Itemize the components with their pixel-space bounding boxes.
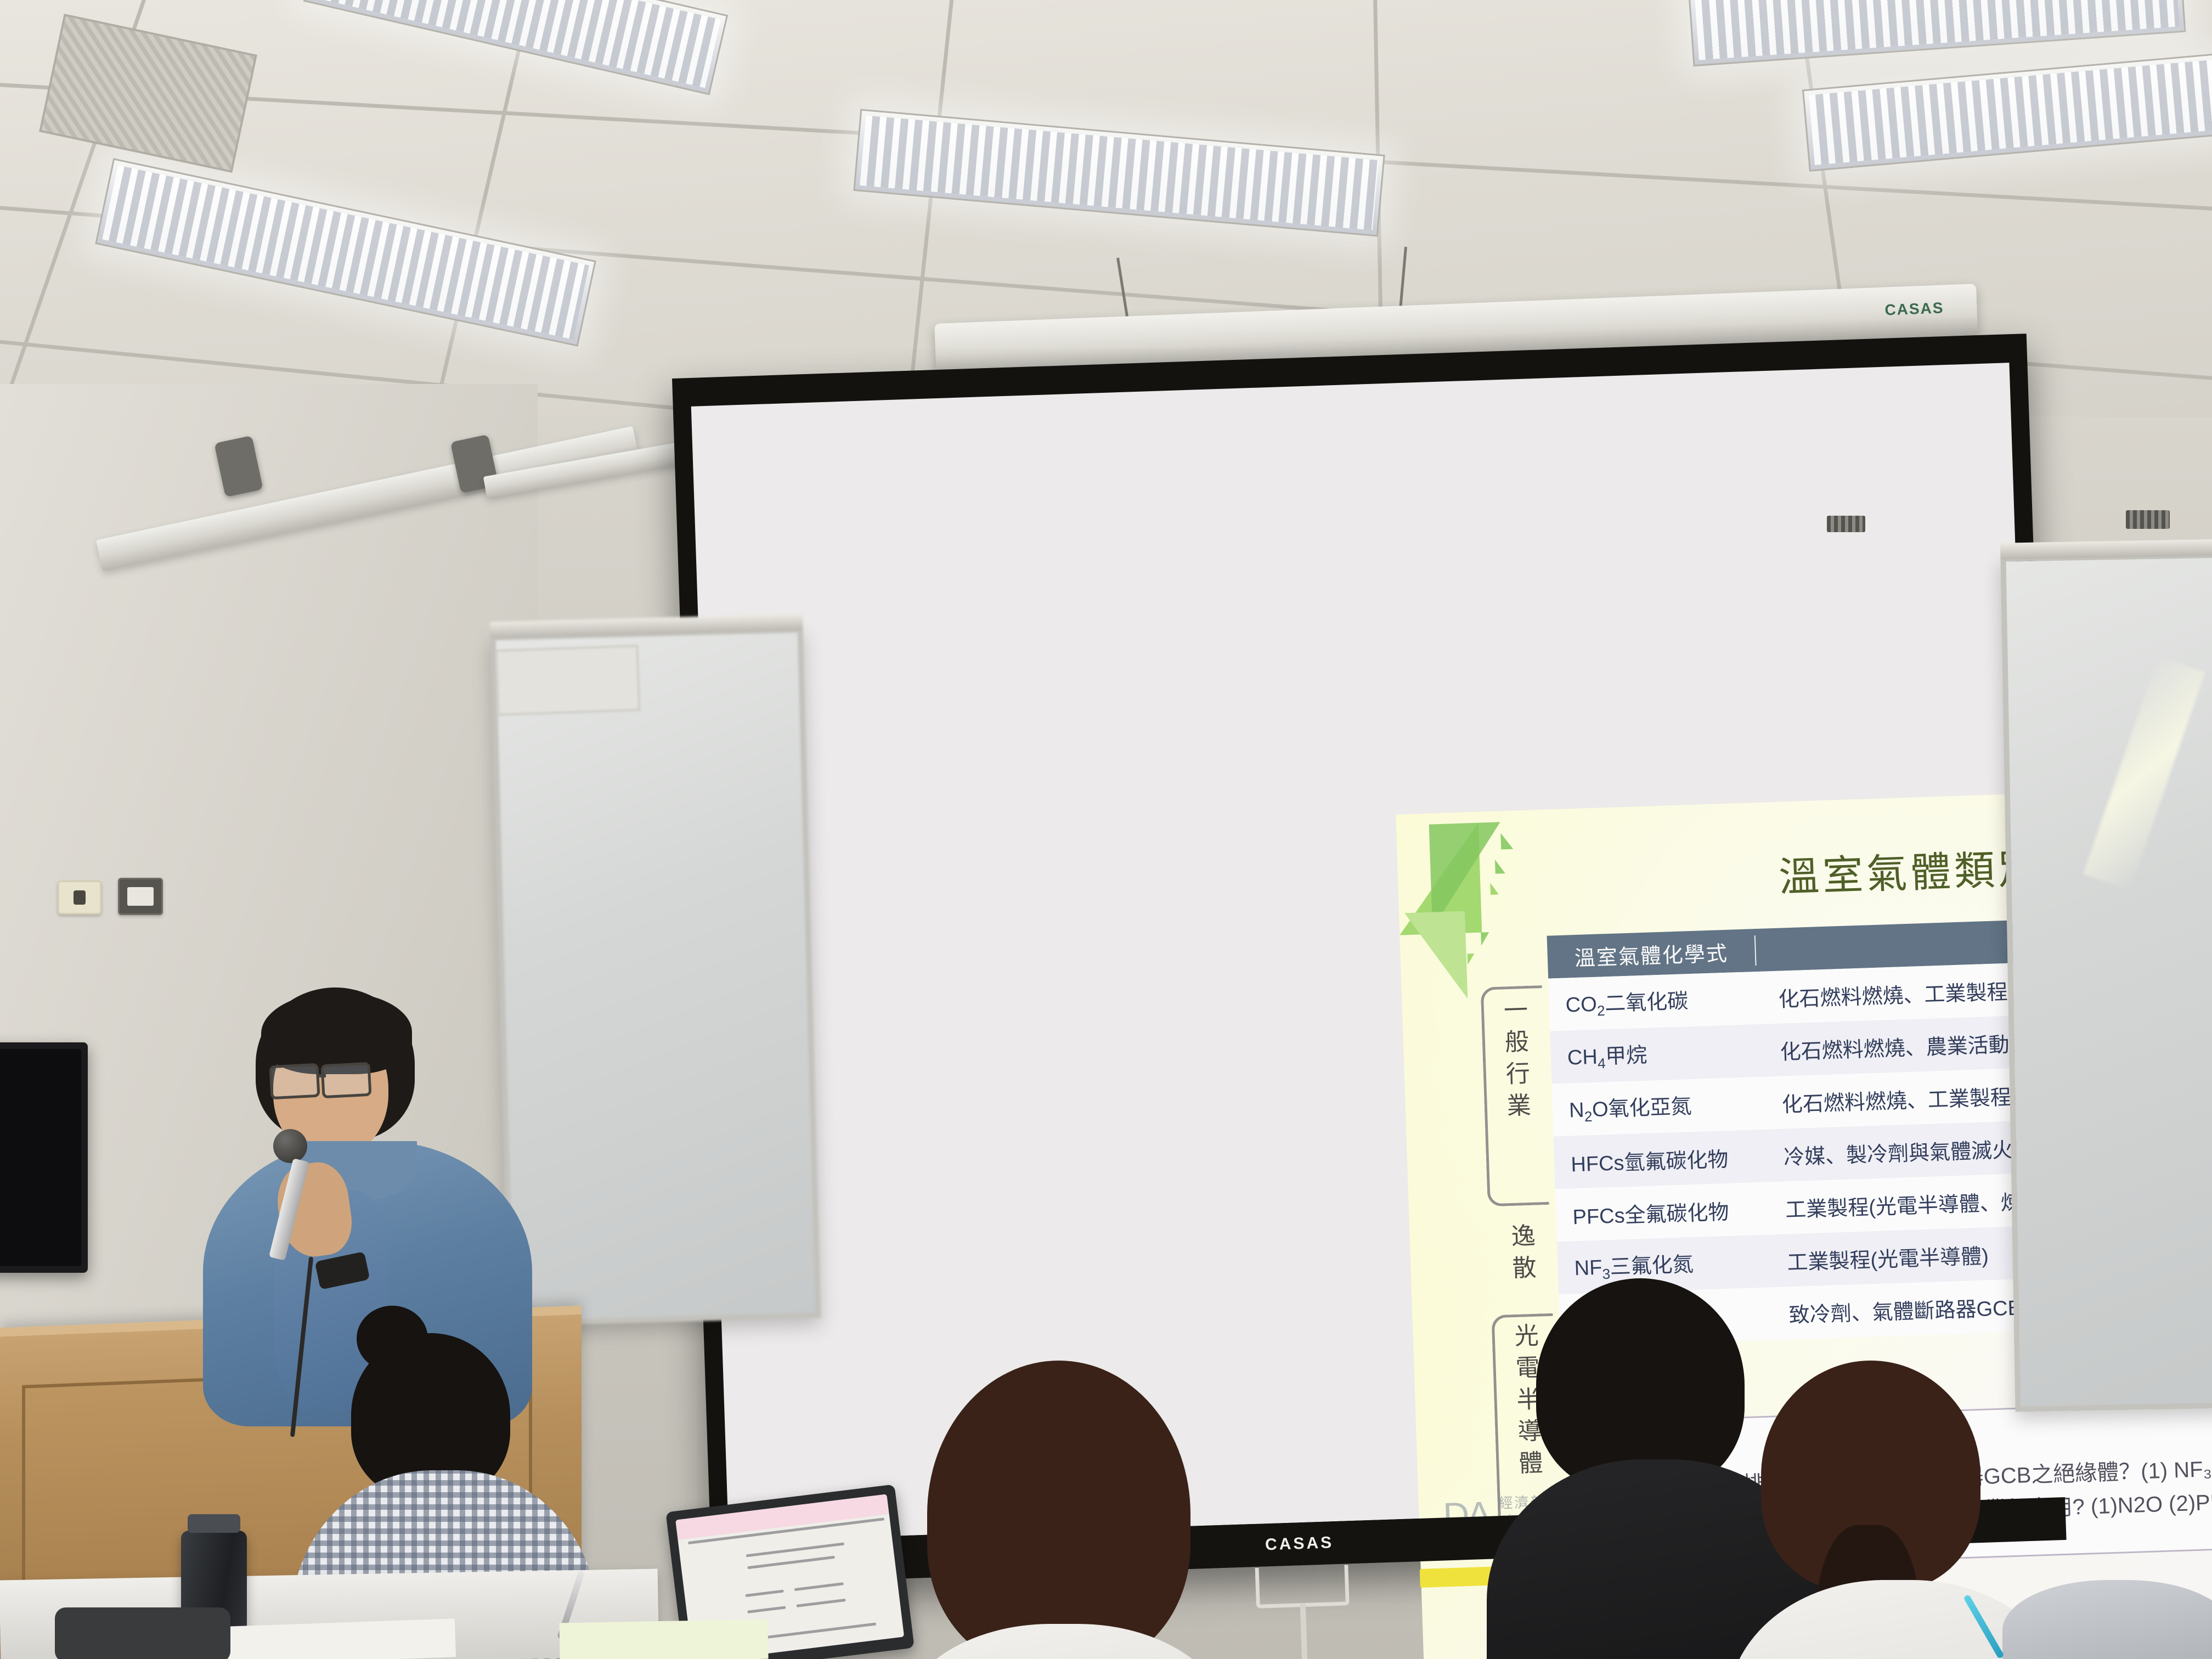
whiteboard-marker-tray — [2000, 539, 2212, 559]
laptop-text-line — [747, 1606, 786, 1613]
laptop-text-line — [746, 1542, 844, 1557]
cell-formula: CO2二氧化碳 — [1549, 981, 1758, 1021]
presenter-glasses-right-lens — [320, 1062, 371, 1099]
cell-formula: PFCs全氟碳化物 — [1556, 1193, 1765, 1231]
classroom-photo: CASAS 溫室氣體類別及排放來源 一般行業 逸散 — [0, 0, 2212, 1659]
wall-outlet-cream[interactable] — [58, 881, 101, 915]
laptop-text-line — [747, 1556, 834, 1569]
cell-formula: NF3三氟化氮 — [1558, 1245, 1767, 1284]
roller-brand-label: CASAS — [1884, 299, 1944, 319]
presenter-glasses-left-lens — [269, 1063, 320, 1100]
bag — [55, 1607, 230, 1659]
laptop-text-line — [797, 1599, 846, 1607]
screen-brand-label: CASAS — [1265, 1533, 1334, 1554]
podium-monitor — [0, 1042, 88, 1273]
microphone-head-icon — [273, 1129, 307, 1163]
wall-outlet-dark[interactable] — [118, 878, 163, 915]
wall-notice-card — [495, 645, 640, 715]
laptop-text-line — [688, 1517, 884, 1544]
laptop-text-line — [746, 1590, 784, 1597]
whiteboard-right — [2000, 552, 2212, 1412]
audience-hair — [927, 1361, 1190, 1659]
whiteboard-mounting-clip — [2126, 510, 2170, 529]
side-label-fugitive: 逸散 — [1499, 1223, 1540, 1288]
cell-formula: HFCs氫氟碳化物 — [1554, 1141, 1763, 1178]
column-header-formula: 溫室氣體化學式 — [1547, 935, 1757, 973]
bottle-cap[interactable] — [188, 1514, 240, 1533]
screen-pull-handle[interactable] — [1255, 1565, 1349, 1609]
side-label-general-industry: 一般行業 — [1492, 997, 1534, 1125]
paper-notes — [559, 1620, 768, 1659]
presenter-hair-fringe — [261, 992, 412, 1074]
presenter-glasses-bridge — [317, 1074, 326, 1077]
laptop-text-line — [794, 1582, 844, 1591]
audience-hair-bun — [357, 1306, 428, 1372]
cell-formula: N2O氧化亞氮 — [1552, 1087, 1762, 1126]
cell-formula: CH4甲烷 — [1550, 1034, 1760, 1074]
whiteboard-mounting-clip — [1827, 516, 1865, 532]
whiteboard-glare — [2083, 656, 2205, 890]
